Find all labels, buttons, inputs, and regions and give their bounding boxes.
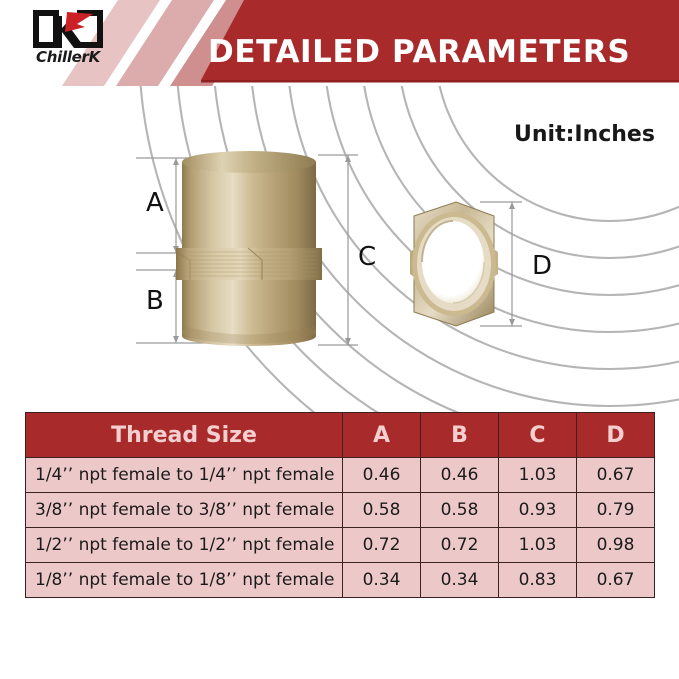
table-row: 1/8’’ npt female to 1/8’’ npt female 0.3…	[26, 563, 655, 598]
cell-b: 0.72	[421, 528, 499, 563]
dimension-label-b: B	[146, 288, 164, 314]
cell-a: 0.58	[343, 493, 421, 528]
chillerk-logo-mark	[31, 8, 105, 50]
table-row: 1/2’’ npt female to 1/2’’ npt female 0.7…	[26, 528, 655, 563]
cell-d: 0.79	[577, 493, 655, 528]
cell-b: 0.58	[421, 493, 499, 528]
dimension-label-c: C	[358, 244, 376, 270]
cell-a: 0.72	[343, 528, 421, 563]
header-banner-underline	[201, 80, 679, 83]
dimension-label-d: D	[532, 253, 552, 279]
cell-thread-size: 1/4’’ npt female to 1/4’’ npt female	[26, 458, 343, 493]
column-header-b: B	[421, 413, 499, 458]
product-spec-sheet: ChillerK DETAILED PARAMETERS Unit:Inches	[0, 0, 679, 679]
cell-a: 0.46	[343, 458, 421, 493]
cell-b: 0.46	[421, 458, 499, 493]
cell-d: 0.67	[577, 458, 655, 493]
cell-b: 0.34	[421, 563, 499, 598]
dimension-label-a: A	[146, 190, 164, 216]
brand-logo: ChillerK	[22, 8, 114, 70]
brand-name: ChillerK	[22, 48, 114, 66]
page-title: DETAILED PARAMETERS	[208, 34, 630, 70]
cell-d: 0.98	[577, 528, 655, 563]
cell-c: 1.03	[499, 458, 577, 493]
product-diagram: A B C D	[120, 140, 560, 355]
product-diagram-graphic	[120, 140, 560, 355]
cell-thread-size: 1/2’’ npt female to 1/2’’ npt female	[26, 528, 343, 563]
brass-coupling-side-view	[176, 151, 322, 346]
specification-table: Thread Size A B C D 1/4’’ npt female to …	[25, 412, 655, 598]
column-header-a: A	[343, 413, 421, 458]
cell-a: 0.34	[343, 563, 421, 598]
dimension-line-c	[318, 155, 358, 345]
column-header-d: D	[577, 413, 655, 458]
column-header-c: C	[499, 413, 577, 458]
table-row: 1/4’’ npt female to 1/4’’ npt female 0.4…	[26, 458, 655, 493]
cell-c: 0.83	[499, 563, 577, 598]
cell-thread-size: 1/8’’ npt female to 1/8’’ npt female	[26, 563, 343, 598]
table-row: 3/8’’ npt female to 3/8’’ npt female 0.5…	[26, 493, 655, 528]
page-header: ChillerK DETAILED PARAMETERS	[0, 0, 679, 86]
cell-c: 1.03	[499, 528, 577, 563]
table-header-row: Thread Size A B C D	[26, 413, 655, 458]
column-header-thread-size: Thread Size	[26, 413, 343, 458]
brass-hex-nut-top-view	[410, 202, 498, 326]
cell-thread-size: 3/8’’ npt female to 3/8’’ npt female	[26, 493, 343, 528]
cell-c: 0.93	[499, 493, 577, 528]
cell-d: 0.67	[577, 563, 655, 598]
